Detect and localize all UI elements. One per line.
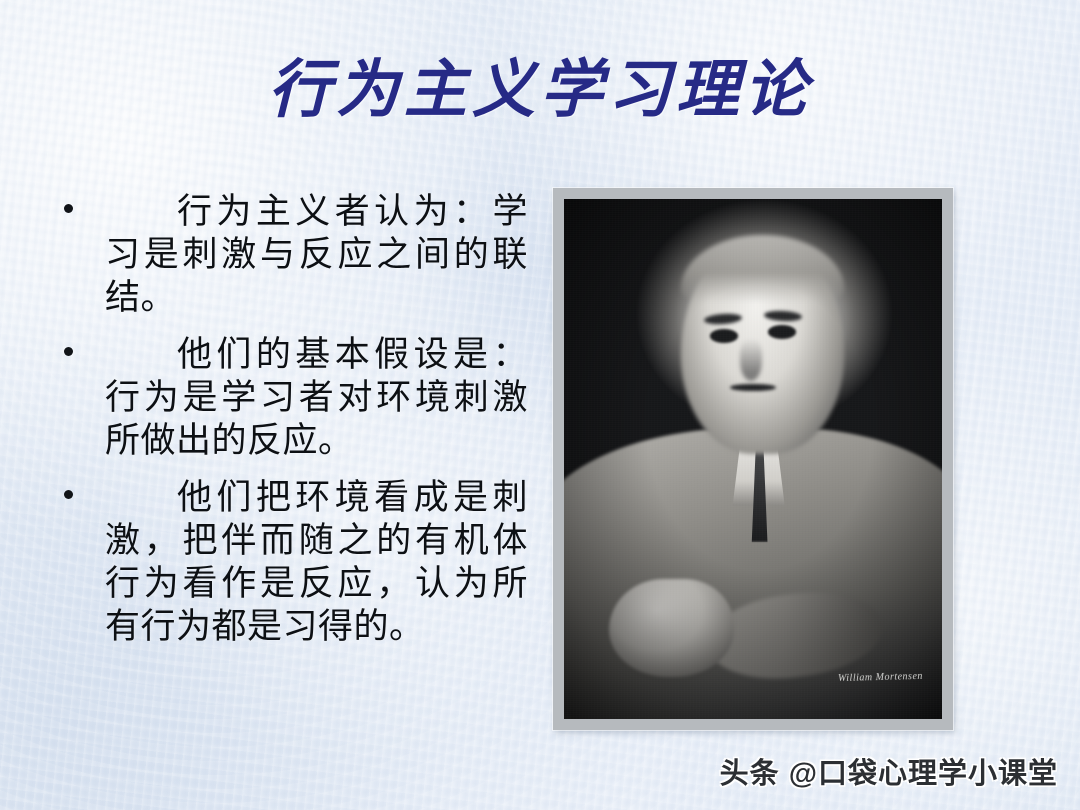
- slide-canvas: 行为主义学习理论 行为主义者认为：学习是刺激与反应之间的联结。 他们的基本假设是…: [0, 0, 1080, 810]
- list-item: 行为主义者认为：学习是刺激与反应之间的联结。: [58, 190, 528, 319]
- watermark: 头条 @口袋心理学小课堂: [720, 750, 1058, 792]
- list-item-text: 他们的基本假设是：行为是学习者对环境刺激所做出的反应。: [105, 333, 528, 462]
- bullet-dot-icon: [64, 490, 73, 499]
- portrait-photo: William Mortensen: [564, 199, 942, 719]
- portrait-photo-frame: William Mortensen: [553, 188, 953, 730]
- page-title: 行为主义学习理论: [0, 52, 1080, 129]
- portrait-film-grain: [564, 199, 942, 719]
- photographer-signature: William Mortensen: [838, 671, 923, 684]
- list-item-text: 他们把环境看成是刺激，把伴而随之的有机体行为看作是反应，认为所有行为都是习得的。: [105, 476, 528, 648]
- list-item: 他们的基本假设是：行为是学习者对环境刺激所做出的反应。: [58, 333, 528, 462]
- bullet-dot-icon: [64, 204, 73, 213]
- bullet-dot-icon: [64, 347, 73, 356]
- list-item-text: 行为主义者认为：学习是刺激与反应之间的联结。: [105, 190, 528, 319]
- bullet-list: 行为主义者认为：学习是刺激与反应之间的联结。 他们的基本假设是：行为是学习者对环…: [58, 190, 528, 662]
- list-item: 他们把环境看成是刺激，把伴而随之的有机体行为看作是反应，认为所有行为都是习得的。: [58, 476, 528, 648]
